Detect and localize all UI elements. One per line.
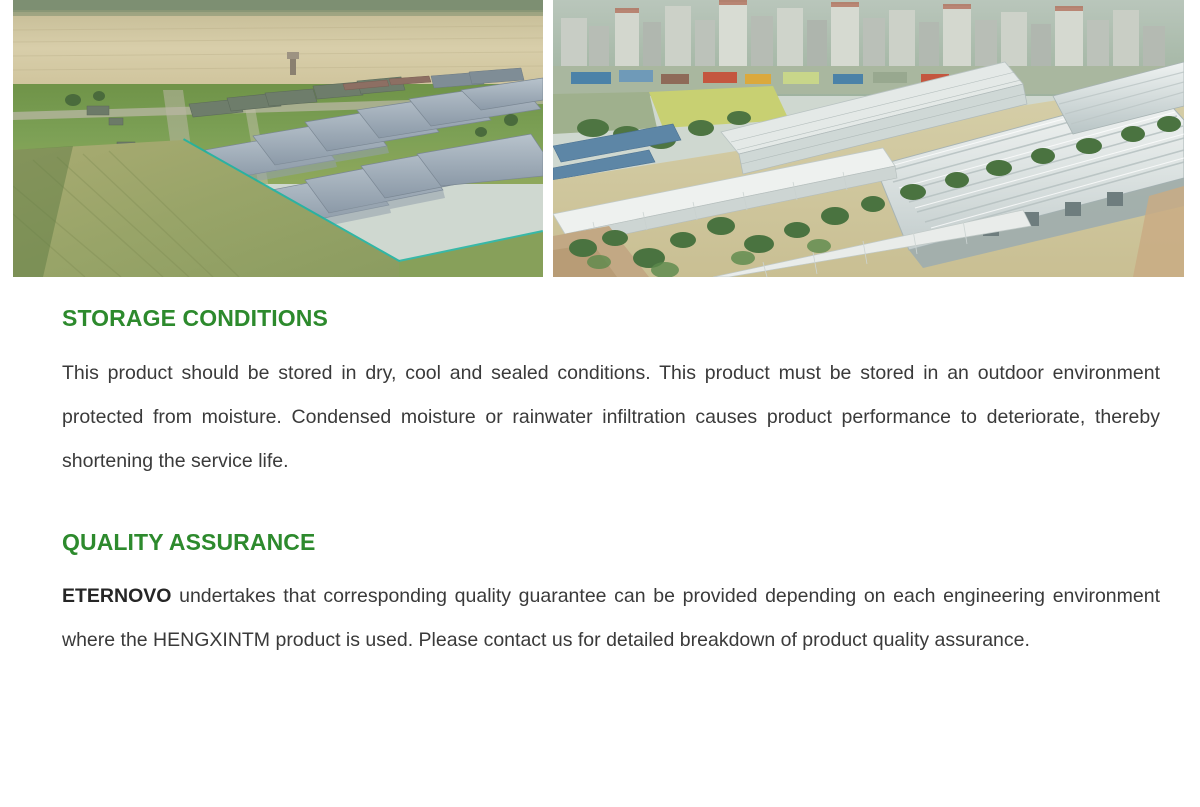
section-storage-conditions: STORAGE CONDITIONS This product should b…	[62, 305, 1160, 483]
photo-aerial-farm-complex	[13, 0, 543, 277]
photo-band	[13, 0, 1184, 277]
paragraph-storage-conditions: This product should be stored in dry, co…	[62, 351, 1160, 483]
heading-quality-assurance: QUALITY ASSURANCE	[62, 529, 1160, 557]
paragraph-quality-assurance-text: undertakes that corresponding quality gu…	[62, 585, 1160, 651]
paragraph-quality-assurance: ETERNOVO undertakes that corresponding q…	[62, 574, 1160, 662]
section-gap	[62, 483, 1160, 529]
brand-name-eternovo: ETERNOVO	[62, 585, 171, 607]
aerial-factory-illustration	[553, 0, 1184, 277]
content-body: STORAGE CONDITIONS This product should b…	[62, 305, 1160, 662]
aerial-farm-illustration	[13, 0, 543, 277]
heading-storage-conditions: STORAGE CONDITIONS	[62, 305, 1160, 333]
section-quality-assurance: QUALITY ASSURANCE ETERNOVO undertakes th…	[62, 529, 1160, 663]
document-page: STORAGE CONDITIONS This product should b…	[0, 0, 1200, 807]
photo-aerial-factory-complex	[553, 0, 1184, 277]
